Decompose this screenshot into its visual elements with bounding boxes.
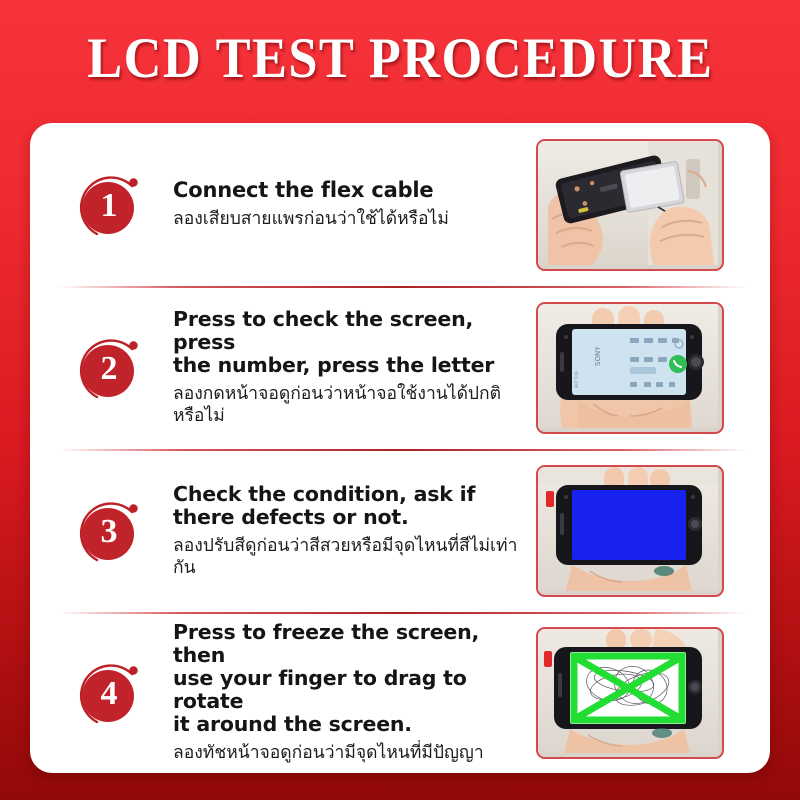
step-title-en: Connect the flex cable (173, 179, 526, 202)
step-title-th: ลองทัชหน้าจอดูก่อนว่ามีจุดไหนที่มีปัญญา (173, 742, 526, 764)
steps-list: 1 Connect the flex cable ลองเสียบสายแพรก… (30, 123, 770, 773)
step-text: Press to freeze the screen, then use you… (173, 621, 536, 764)
step-number: 3 (70, 494, 144, 568)
step-text: Press to check the screen, press the num… (173, 308, 536, 427)
step-row: 4 Press to freeze the screen, then use y… (30, 612, 770, 773)
poster: LCD TEST PROCEDURE 1 Connect the flex ca… (0, 0, 800, 800)
photo-keypad-test: SONY BUTTON (536, 302, 724, 434)
step-title-th: ลองเสียบสายแพรก่อนว่าใช้ได้หรือไม่ (173, 208, 526, 230)
step-number: 4 (70, 656, 144, 730)
photo-connect-flex-cable (536, 139, 724, 271)
step-title-th: ลองปรับสีดูก่อนว่าสีสวยหรือมีจุดไหนที่สี… (173, 535, 526, 579)
photo-blue-color-test (536, 465, 724, 597)
step-text: Connect the flex cable ลองเสียบสายแพรก่อ… (173, 179, 536, 230)
svg-text:SONY: SONY (594, 345, 602, 365)
step-row: 3 Check the condition, ask if there defe… (30, 449, 770, 612)
page-title: LCD TEST PROCEDURE (87, 28, 713, 90)
steps-card: 1 Connect the flex cable ลองเสียบสายแพรก… (30, 123, 770, 773)
step-number: 2 (70, 331, 144, 405)
step-title-th: ลองกดหน้าจอดูก่อนว่าหน้าจอใช้งานได้ปกติห… (173, 383, 526, 427)
step-number: 1 (70, 168, 144, 242)
photo-touch-drag-test (536, 627, 724, 759)
svg-text:BUTTON: BUTTON (574, 371, 579, 388)
step-number-badge: 3 (70, 494, 144, 568)
step-number-badge: 4 (70, 656, 144, 730)
step-number-badge: 2 (70, 331, 144, 405)
step-title-en: Press to check the screen, press the num… (173, 308, 526, 377)
step-row: 1 Connect the flex cable ลองเสียบสายแพรก… (30, 123, 770, 286)
step-number-badge: 1 (70, 168, 144, 242)
step-title-en: Check the condition, ask if there defect… (173, 483, 526, 529)
title-bar: LCD TEST PROCEDURE (0, 28, 800, 90)
step-row: 2 Press to check the screen, press the n… (30, 286, 770, 449)
step-title-en: Press to freeze the screen, then use you… (173, 621, 526, 736)
step-text: Check the condition, ask if there defect… (173, 483, 536, 579)
